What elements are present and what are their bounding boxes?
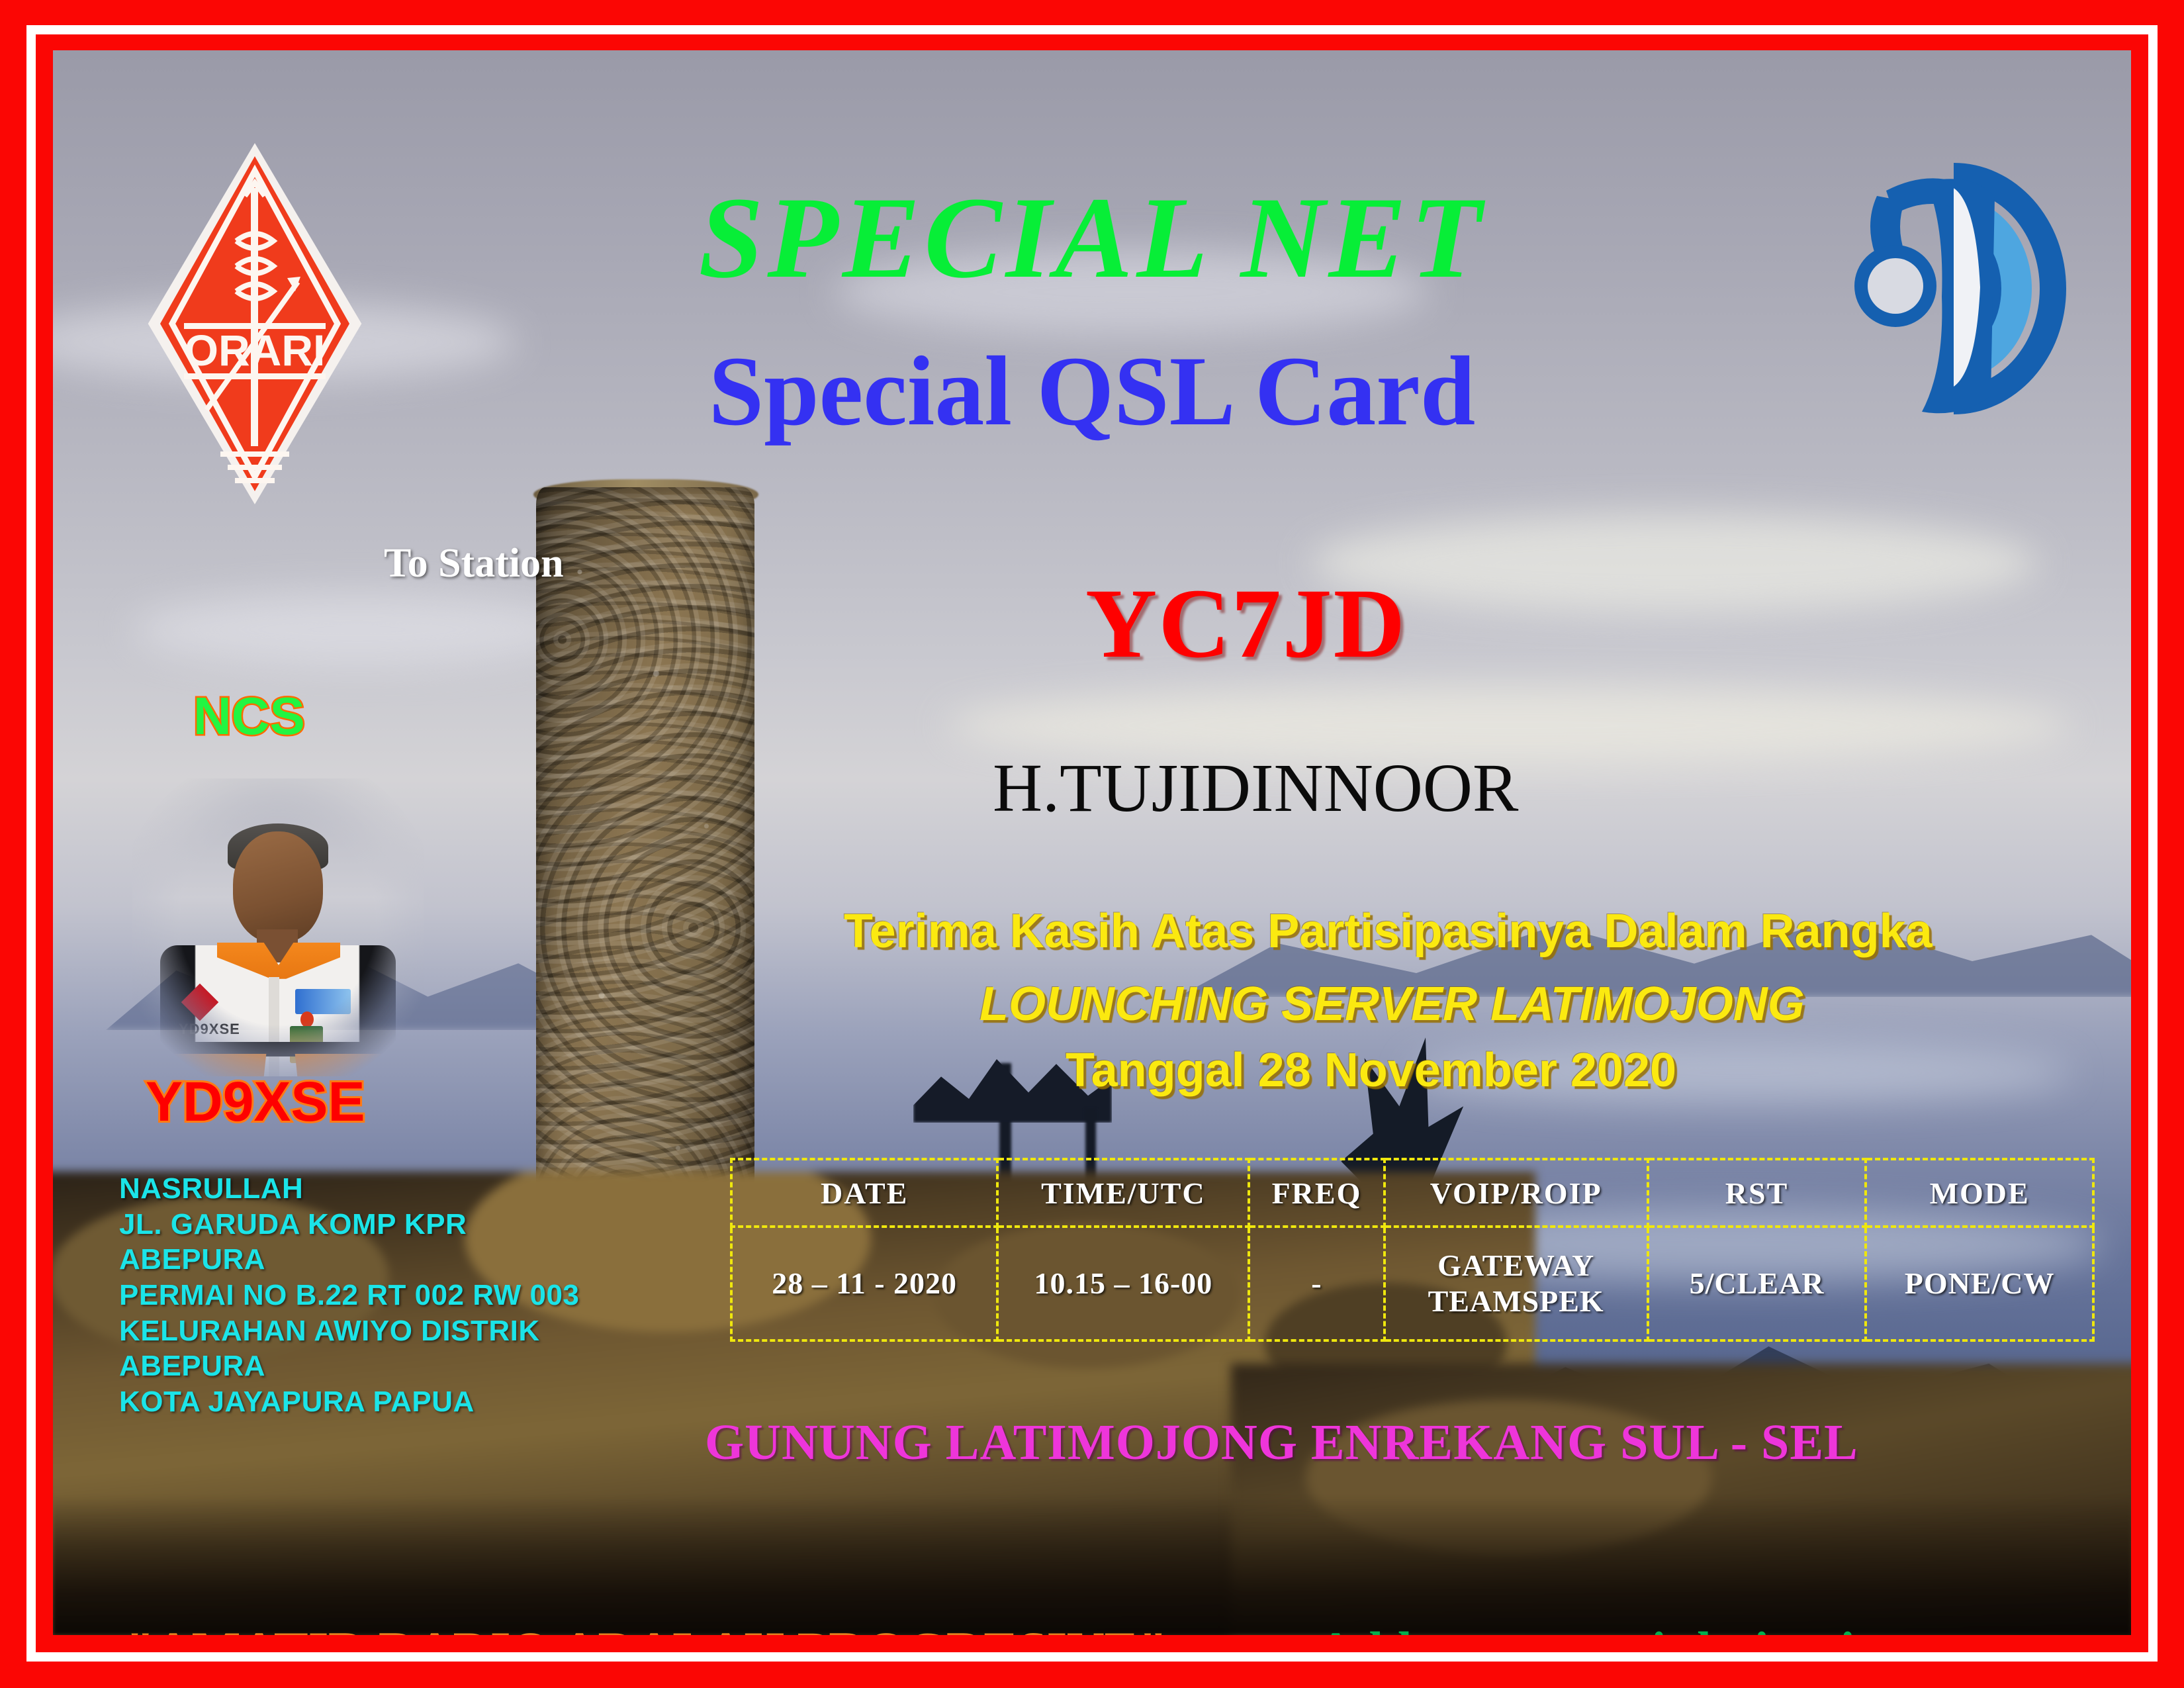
operator-photo: YD9XSE — [132, 778, 424, 1076]
uniform-orange-panel — [164, 1054, 267, 1076]
ncs-label: NCS — [193, 686, 305, 747]
card-inner-red-border: ORARI SPECIAL NET Special QSL Card — [36, 34, 2148, 1652]
qsl-card: ORARI SPECIAL NET Special QSL Card — [0, 0, 2184, 1688]
cell-date: 28 – 11 - 2020 — [731, 1227, 997, 1340]
footer-website: Address : amatir.latimojong.com — [1317, 1620, 2040, 1635]
cell-voip-roip: GATEWAY TEAMSPEK — [1385, 1227, 1648, 1340]
column-header-voip-roip: VOIP/ROIP — [1385, 1159, 1648, 1227]
address-line: NASRULLAH — [119, 1171, 579, 1207]
uniform-orange-panel — [295, 1054, 398, 1076]
cell-time: 10.15 – 16-00 — [997, 1227, 1249, 1340]
address-line: JL. GARUDA KOMP KPR — [119, 1207, 579, 1243]
to-station-label: To Station — [384, 540, 564, 587]
footer-motto: "AMATIR RADIO ADALAH PROGRESIVE" — [126, 1620, 1167, 1635]
address-block: NASRULLAH JL. GARUDA KOMP KPR ABEPURA PE… — [119, 1171, 579, 1420]
address-line: PERMAI NO B.22 RT 002 RW 003 — [119, 1278, 579, 1313]
cloud — [132, 593, 582, 666]
event-date: Tanggal 28 November 2020 — [1066, 1043, 1676, 1098]
thanks-line: Terima Kasih Atas Partisipasinya Dalam R… — [844, 904, 1933, 959]
location-text: GUNUNG LATIMOJONG ENREKANG SUL - SEL — [705, 1414, 1858, 1472]
face — [233, 831, 323, 943]
cell-rst: 5/CLEAR — [1648, 1227, 1866, 1340]
shirt-callsign-patch: YD9XSE — [179, 1021, 240, 1038]
station-callsign: YC7JD — [1085, 567, 1406, 680]
operator-name: H.TUJIDINNOOR — [993, 749, 1518, 827]
foreground-shadow — [53, 1496, 2131, 1635]
cell-freq: - — [1249, 1227, 1384, 1340]
cell-voip-roip-line2: TEAMSPEK — [1387, 1284, 1646, 1319]
page-subtitle: Special QSL Card — [53, 342, 2131, 441]
column-header-time: TIME/UTC — [997, 1159, 1249, 1227]
address-line: ABEPURA — [119, 1242, 579, 1278]
column-header-mode: MODE — [1866, 1159, 2093, 1227]
card-white-border: ORARI SPECIAL NET Special QSL Card — [26, 25, 2158, 1662]
column-header-date: DATE — [731, 1159, 997, 1227]
table-row: 28 – 11 - 2020 10.15 – 16-00 - GATEWAY T… — [731, 1227, 2093, 1340]
event-name: LOUNCHING SERVER LATIMOJONG — [979, 977, 1805, 1031]
cell-mode: PONE/CW — [1866, 1227, 2093, 1340]
log-table: DATE TIME/UTC FREQ VOIP/ROIP RST MODE 28… — [730, 1158, 2095, 1342]
card-photo-area: ORARI SPECIAL NET Special QSL Card — [53, 50, 2131, 1635]
column-header-rst: RST — [1648, 1159, 1866, 1227]
address-line: KOTA JAYAPURA PAPUA — [119, 1384, 579, 1420]
cell-voip-roip-line1: GATEWAY — [1387, 1248, 1646, 1284]
page-title: SPECIAL NET — [53, 180, 2131, 297]
table-header-row: DATE TIME/UTC FREQ VOIP/ROIP RST MODE — [731, 1159, 2093, 1227]
ncs-callsign: YD9XSE — [146, 1070, 365, 1134]
column-header-freq: FREQ — [1249, 1159, 1384, 1227]
lanyard-clip — [300, 1011, 314, 1027]
address-line: ABEPURA — [119, 1348, 579, 1384]
cloud — [1310, 514, 2038, 613]
shirt-badge-right — [295, 989, 351, 1014]
address-line: KELURAHAN AWIYO DISTRIK — [119, 1313, 579, 1349]
shirt-placket — [269, 977, 279, 1076]
